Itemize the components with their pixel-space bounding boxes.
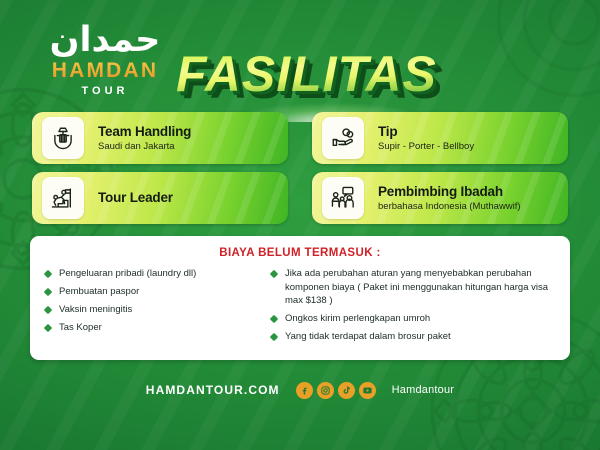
list-item-label: Pengeluaran pribadi (laundry dll) (59, 268, 196, 279)
list-item: Jika ada perubahan aturan yang menyebabk… (270, 267, 556, 308)
list-item: Pembuatan paspor (44, 285, 256, 299)
list-item: Ongkos kirim perlengkapan umroh (270, 312, 556, 326)
facebook-icon[interactable] (296, 382, 313, 399)
list-item-label: Ongkos kirim perlengkapan umroh (285, 313, 430, 324)
list-item: Vaksin meningitis (44, 303, 256, 317)
tip-hand-coins-icon (322, 117, 364, 159)
page-title: FASILITAS (176, 46, 476, 102)
list-item-label: Vaksin meningitis (59, 304, 132, 315)
facility-card-text: Team Handling Saudi dan Jakarta (98, 124, 191, 153)
flag-climber-icon (42, 177, 84, 219)
bullet-diamond-icon (44, 270, 52, 278)
handshake-icon (42, 117, 84, 159)
facility-title: Pembimbing Ibadah (378, 184, 521, 200)
exclusions-panel: BIAYA BELUM TERMASUK : Pengeluaran priba… (30, 236, 570, 360)
list-item: Yang tidak terdapat dalam brosur paket (270, 330, 556, 344)
guide-speaker-icon (322, 177, 364, 219)
brand-tagline: TOUR (30, 85, 180, 97)
poster-footer: HAMDANTOUR.COM Hamdantour (0, 374, 600, 406)
facility-title: Tip (378, 124, 474, 140)
facility-cards-grid: Team Handling Saudi dan Jakarta Tip Supi… (0, 112, 600, 224)
list-item: Pengeluaran pribadi (laundry dll) (44, 267, 256, 281)
tiktok-icon[interactable] (338, 382, 355, 399)
social-links (296, 382, 376, 399)
exclusions-list-right: Jika ada perubahan aturan yang menyebabk… (270, 267, 556, 348)
website-url[interactable]: HAMDANTOUR.COM (146, 383, 280, 397)
list-item-label: Yang tidak terdapat dalam brosur paket (285, 331, 451, 342)
list-item-label: Pembuatan paspor (59, 286, 139, 297)
youtube-icon[interactable] (359, 382, 376, 399)
page-title-container: FASILITAS (176, 46, 476, 108)
bullet-diamond-icon (44, 306, 52, 314)
facility-card-text: Tour Leader (98, 190, 173, 207)
facility-title: Team Handling (98, 124, 191, 140)
exclusions-list-left: Pengeluaran pribadi (laundry dll) Pembua… (44, 267, 256, 348)
list-item: Tas Koper (44, 321, 256, 335)
social-handle: Hamdantour (392, 384, 455, 396)
bullet-diamond-icon (44, 324, 52, 332)
facility-title: Tour Leader (98, 190, 173, 206)
list-item-label: Jika ada perubahan aturan yang menyebabk… (285, 268, 548, 306)
bullet-diamond-icon (44, 288, 52, 296)
facility-card-text: Tip Supir - Porter - Bellboy (378, 124, 474, 153)
facility-subtitle: berbahasa Indonesia (Muthawwif) (378, 201, 521, 213)
exclusions-title: BIAYA BELUM TERMASUK : (44, 247, 556, 259)
facilities-poster: حمدان HAMDAN TOUR FASILITAS Tea (0, 0, 600, 450)
facility-card[interactable]: Pembimbing Ibadah berbahasa Indonesia (M… (312, 172, 568, 224)
brand-logo: حمدان HAMDAN TOUR (30, 20, 180, 97)
bullet-diamond-icon (270, 333, 278, 341)
facility-card[interactable]: Tour Leader (32, 172, 288, 224)
poster-header: حمدان HAMDAN TOUR FASILITAS (0, 0, 600, 112)
facility-subtitle: Saudi dan Jakarta (98, 141, 191, 153)
bullet-diamond-icon (270, 270, 278, 278)
facility-card[interactable]: Tip Supir - Porter - Bellboy (312, 112, 568, 164)
facility-card-text: Pembimbing Ibadah berbahasa Indonesia (M… (378, 184, 521, 213)
facility-card[interactable]: Team Handling Saudi dan Jakarta (32, 112, 288, 164)
facility-subtitle: Supir - Porter - Bellboy (378, 141, 474, 153)
brand-latin-name: HAMDAN (30, 60, 180, 82)
brand-arabic-name: حمدان (30, 20, 180, 60)
list-item-label: Tas Koper (59, 322, 102, 333)
bullet-diamond-icon (270, 315, 278, 323)
exclusions-columns: Pengeluaran pribadi (laundry dll) Pembua… (44, 267, 556, 348)
instagram-icon[interactable] (317, 382, 334, 399)
